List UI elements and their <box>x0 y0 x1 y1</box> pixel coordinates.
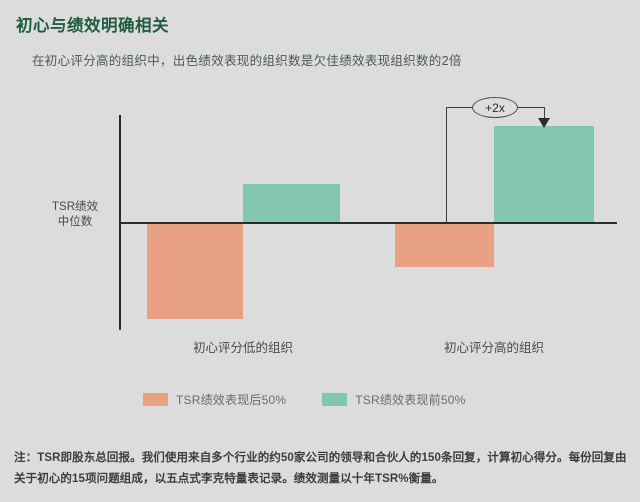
bar-low-bottom50 <box>147 224 243 319</box>
legend-swatch-teal <box>322 393 347 406</box>
bar-chart: TSR绩效 中位数 +2x 初心评分低的组织 初心评分高的组织 <box>0 0 640 502</box>
legend-swatch-salmon <box>143 393 168 406</box>
legend-label-top50: TSR绩效表现前50% <box>355 391 465 408</box>
legend-item-top50: TSR绩效表现前50% <box>322 391 465 408</box>
bar-high-top50 <box>494 126 594 222</box>
annotation-badge-2x: +2x <box>472 97 518 118</box>
legend-item-bottom50: TSR绩效表现后50% <box>143 391 286 408</box>
y-axis-label-line1: TSR绩效 <box>36 200 114 215</box>
legend-label-bottom50: TSR绩效表现后50% <box>176 391 286 408</box>
bar-high-bottom50 <box>395 224 494 267</box>
group-label-low: 初心评分低的组织 <box>178 337 308 356</box>
annotation-arrow-icon <box>538 118 550 128</box>
bar-low-top50 <box>243 184 340 222</box>
footnote-text: 注：TSR即股东总回报。我们使用来自多个行业的约50家公司的领导和合伙人的150… <box>14 448 630 490</box>
y-axis-label: TSR绩效 中位数 <box>36 200 114 230</box>
chart-legend: TSR绩效表现后50% TSR绩效表现前50% <box>143 391 465 408</box>
y-axis-label-line2: 中位数 <box>36 215 114 230</box>
infographic-page: 初心与绩效明确相关 在初心评分高的组织中，出色绩效表现的组织数是欠佳绩效表现组织… <box>0 0 640 502</box>
annotation-connector-left <box>446 107 447 223</box>
annotation-connector-top-right <box>515 107 545 108</box>
group-label-high: 初心评分高的组织 <box>429 337 559 356</box>
